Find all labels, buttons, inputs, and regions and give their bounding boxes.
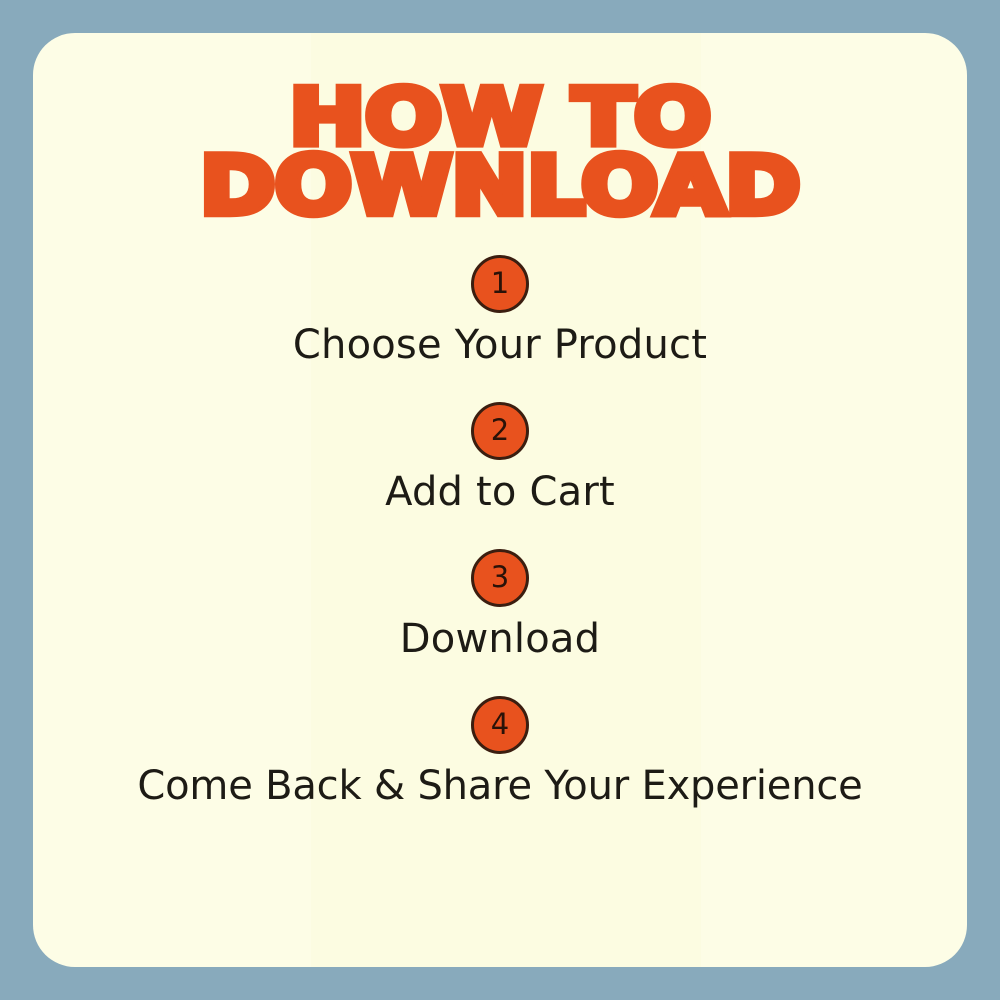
- step-item-4: 4 Come Back & Share Your Experience: [33, 696, 967, 808]
- step-item-1: 1 Choose Your Product: [33, 255, 967, 367]
- title-line-2: DOWNLOAD: [33, 153, 967, 220]
- step-item-3: 3 Download: [33, 549, 967, 661]
- step-number-1: 1: [491, 269, 509, 298]
- poster-card: HOW TO DOWNLOAD 1 Choose Your Product 2 …: [33, 33, 967, 967]
- step-item-2: 2 Add to Cart: [33, 402, 967, 514]
- step-number-3: 3: [491, 563, 509, 592]
- step-label-2: Add to Cart: [33, 470, 967, 514]
- step-badge-2: 2: [471, 402, 529, 460]
- step-number-4: 4: [491, 710, 509, 739]
- step-badge-3: 3: [471, 549, 529, 607]
- poster-title: HOW TO DOWNLOAD: [33, 85, 967, 215]
- step-badge-1: 1: [471, 255, 529, 313]
- step-number-2: 2: [491, 416, 509, 445]
- poster-canvas: HOW TO DOWNLOAD 1 Choose Your Product 2 …: [0, 0, 1000, 1000]
- step-label-1: Choose Your Product: [33, 323, 967, 367]
- poster-content: HOW TO DOWNLOAD 1 Choose Your Product 2 …: [33, 33, 967, 967]
- step-badge-4: 4: [471, 696, 529, 754]
- step-label-4: Come Back & Share Your Experience: [33, 764, 967, 808]
- step-label-3: Download: [33, 617, 967, 661]
- steps-list: 1 Choose Your Product 2 Add to Cart 3 Do…: [33, 255, 967, 843]
